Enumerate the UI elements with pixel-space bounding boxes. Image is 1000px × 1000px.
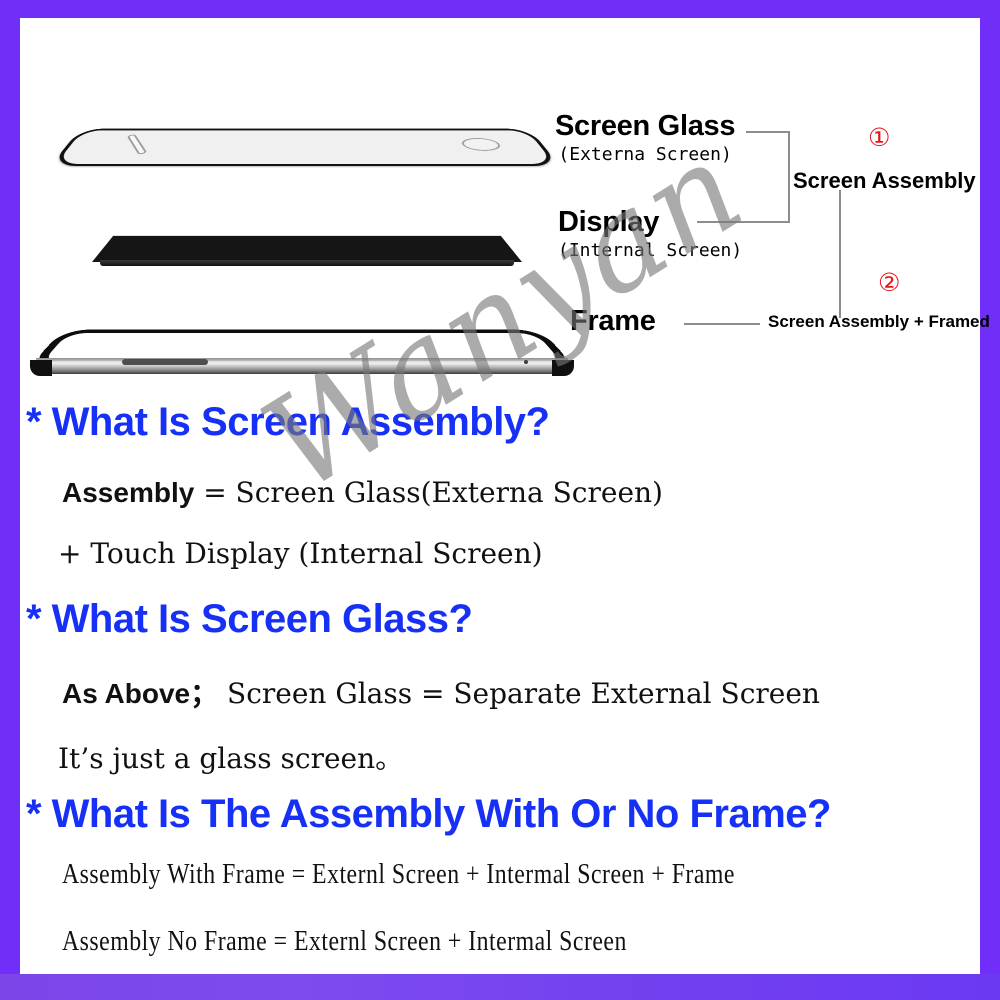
frame-rail: [36, 361, 568, 374]
frame-corner-left: [30, 360, 52, 376]
marker-circled-two: ②: [878, 270, 900, 295]
faq-line-rest: It’s just a glass screen。: [58, 742, 403, 775]
callout-frame: Frame: [570, 305, 656, 338]
border-bottom: [0, 974, 1000, 1000]
phone-display-panel-icon: [92, 204, 522, 262]
callout-screen-glass-sublabel: (Externa Screen): [555, 144, 735, 165]
faq-line-rest: = Screen Glass(Externa Screen): [194, 476, 663, 509]
microphone-dot-icon: [524, 360, 528, 364]
display-body: [92, 236, 522, 262]
phone-glass-panel-icon: [50, 86, 560, 166]
connector-line-display: [697, 221, 790, 223]
faq-line-rest: + Touch Display (Internal Screen): [58, 537, 543, 570]
callout-display-label: Display: [558, 206, 659, 238]
home-button-icon: [459, 138, 504, 151]
callout-display: Display (Internal Screen): [558, 206, 742, 261]
border-left: [0, 0, 20, 1000]
faq-line-glass-definition: As Above； Screen Glass = Separate Extern…: [62, 672, 820, 712]
faq-line-no-frame: Assembly No Frame = Externl Screen + Int…: [62, 925, 627, 958]
group-label-screen-assembly: Screen Assembly: [793, 168, 976, 194]
faq-heading-frame-options: * What Is The Assembly With Or No Frame?: [26, 792, 831, 837]
faq-line-assembly-definition: Assembly = Screen Glass(Externa Screen): [62, 476, 663, 509]
callout-frame-label: Frame: [570, 305, 656, 337]
faq-heading-screen-assembly: * What Is Screen Assembly?: [26, 400, 549, 445]
speaker-slot-icon: [122, 359, 208, 365]
infographic-page: Screen Glass (Externa Screen) Display (I…: [0, 0, 1000, 1000]
border-right: [980, 0, 1000, 978]
marker-circled-one: ①: [868, 125, 890, 150]
faq-line-assembly-definition-cont: + Touch Display (Internal Screen): [58, 537, 543, 570]
display-edge: [100, 260, 514, 266]
callout-screen-glass: Screen Glass (Externa Screen): [555, 110, 735, 165]
group-label-screen-assembly-framed: Screen Assembly + Framed: [768, 312, 990, 332]
faq-heading-screen-glass: * What Is Screen Glass?: [26, 597, 472, 642]
earpiece-slot-icon: [127, 134, 147, 155]
connector-line-glass: [746, 131, 790, 133]
frame-corner-right: [552, 360, 574, 376]
faq-line-lead: Assembly: [62, 477, 194, 508]
connector-line-assembly-vertical: [839, 190, 841, 318]
faq-line-lead: As Above；: [62, 678, 218, 709]
phone-frame-bezel-icon: [28, 280, 576, 380]
callout-display-sublabel: (Internal Screen): [558, 240, 742, 261]
connector-line-frame: [684, 323, 760, 325]
glass-body: [50, 129, 560, 166]
callout-screen-glass-label: Screen Glass: [555, 110, 735, 142]
connector-bracket-vertical: [788, 131, 790, 223]
faq-line-with-frame: Assembly With Frame = Externl Screen + I…: [62, 858, 735, 891]
exploded-phone-illustration: [20, 18, 980, 388]
border-top: [0, 0, 1000, 18]
faq-line-rest: Screen Glass = Separate External Screen: [218, 677, 820, 710]
faq-line-glass-definition-cont: It’s just a glass screen。: [58, 737, 403, 777]
